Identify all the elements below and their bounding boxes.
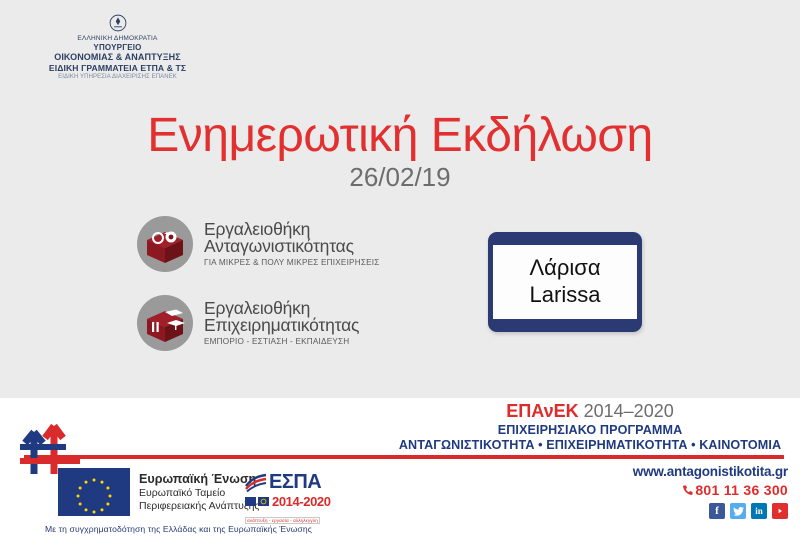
facebook-icon[interactable]: f (709, 503, 725, 519)
city-sign: Λάρισα Larissa (488, 232, 642, 332)
ministry-header: ΕΛΛΗΝΙΚΗ ΔΗΜΟΚΡΑΤΙΑ ΥΠΟΥΡΓΕΙΟ ΟΙΚΟΝΟΜΙΑΣ… (40, 14, 195, 81)
event-title: Ενημερωτική Εκδήλωση (0, 108, 800, 163)
toolkit-competitiveness: Εργαλειοθήκη Ανταγωνιστικότητας ΓΙΑ ΜΙΚΡ… (137, 216, 380, 272)
espa-word: ΕΣΠΑ (269, 472, 321, 492)
european-union-block: Ευρωπαϊκή Ένωση Ευρωπαϊκό Ταμείο Περιφερ… (58, 468, 259, 516)
epanek-line-3: ΑΝΤΑΓΩΝΙΣΤΙΚΟΤΗΤΑ • ΕΠΙΧΕΙΡΗΜΑΤΙΚΟΤΗΤΑ •… (380, 438, 800, 452)
footer-divider-line (24, 455, 784, 459)
ministry-line-1: ΕΛΛΗΝΙΚΗ ΔΗΜΟΚΡΑΤΙΑ (40, 35, 195, 43)
espa-logo: ΕΣΠΑ 2014-2020 ανάπτυξη - εργασία - αλλη… (245, 468, 337, 516)
toolkit-label-line-2: Ανταγωνιστικότητας (204, 238, 380, 256)
youtube-icon[interactable] (772, 503, 788, 519)
epanek-line-2: ΕΠΙΧΕΙΡΗΣΙΑΚΟ ΠΡΟΓΡΑΜΜΑ (380, 423, 800, 437)
espa-years: 2014-2020 (272, 494, 331, 509)
ministry-line-5: ΕΙΔΙΚΗ ΥΠΗΡΕΣΙΑ ΔΙΑΧΕΙΡΙΣΗΣ ΕΠΑΝΕΚ (40, 74, 195, 81)
espa-wave-icon (245, 472, 267, 492)
event-poster: ΕΛΛΗΝΙΚΗ ΔΗΜΟΚΡΑΤΙΑ ΥΠΟΥΡΓΕΙΟ ΟΙΚΟΝΟΜΙΑΣ… (0, 0, 800, 552)
greek-republic-emblem-icon (109, 14, 127, 32)
event-date: 26/02/19 (0, 162, 800, 193)
toolkit-subtitle: ΕΜΠΟΡΙΟ - ΕΣΤΙΑΣΗ - ΕΚΠΑΙΔΕΥΣΗ (204, 338, 359, 346)
toolkit-subtitle: ΓΙΑ ΜΙΚΡΕΣ & ΠΟΛΥ ΜΙΚΡΕΣ ΕΠΙΧΕΙΡΗΣΕΙΣ (204, 259, 380, 267)
city-name-greek: Λάρισα (529, 255, 600, 282)
phone-number[interactable]: 801 11 36 300 (695, 482, 788, 498)
ministry-line-4: ΕΙΔΙΚΗ ΓΡΑΜΜΑΤΕΙΑ ΕΤΠΑ & ΤΣ (40, 63, 195, 73)
epanek-headline: ΕΠΑνΕΚ 2014–2020 ΕΠΙΧΕΙΡΗΣΙΑΚΟ ΠΡΟΓΡΑΜΜΑ… (380, 402, 800, 452)
espa-mini-flag-icon (245, 497, 269, 506)
espa-tagline: ανάπτυξη - εργασία - αλληλεγγύη (245, 517, 320, 524)
ministry-line-3: ΟΙΚΟΝΟΜΙΑΣ & ΑΝΑΠΤΥΞΗΣ (40, 52, 195, 63)
ministry-line-2: ΥΠΟΥΡΓΕΙΟ (40, 43, 195, 52)
city-name-latin: Larissa (530, 282, 601, 309)
linkedin-icon[interactable]: in (751, 503, 767, 519)
epanek-period: 2014–2020 (584, 401, 674, 421)
contact-block: www.antagonistikotita.gr 801 11 36 300 f… (633, 464, 788, 519)
website-link[interactable]: www.antagonistikotita.gr (633, 464, 788, 479)
epanek-acronym: ΕΠΑνΕΚ (506, 401, 578, 421)
toolkit-label-line-2: Επιχειρηματικότητας (204, 317, 359, 335)
toolkit-entrepreneurship: Εργαλειοθήκη Επιχειρηματικότητας ΕΜΠΟΡΙΟ… (137, 295, 359, 351)
cofunding-statement: Με τη συγχρηματοδότηση της Ελλάδας και τ… (45, 524, 312, 534)
social-links: f in (633, 503, 788, 519)
toolbox-entrepreneurship-icon (137, 295, 193, 351)
european-union-flag-icon (58, 468, 130, 516)
eu-line-3: Περιφερειακής Ανάπτυξης (139, 500, 259, 513)
phone-icon (682, 484, 694, 496)
eu-line-1: Ευρωπαϊκή Ένωση (139, 472, 259, 487)
footer-band: ΕΠΑνΕΚ 2014–2020 ΕΠΙΧΕΙΡΗΣΙΑΚΟ ΠΡΟΓΡΑΜΜΑ… (0, 398, 800, 552)
toolbox-competitiveness-icon (137, 216, 193, 272)
twitter-icon[interactable] (730, 503, 746, 519)
eu-line-2: Ευρωπαϊκό Ταμείο (139, 487, 259, 500)
